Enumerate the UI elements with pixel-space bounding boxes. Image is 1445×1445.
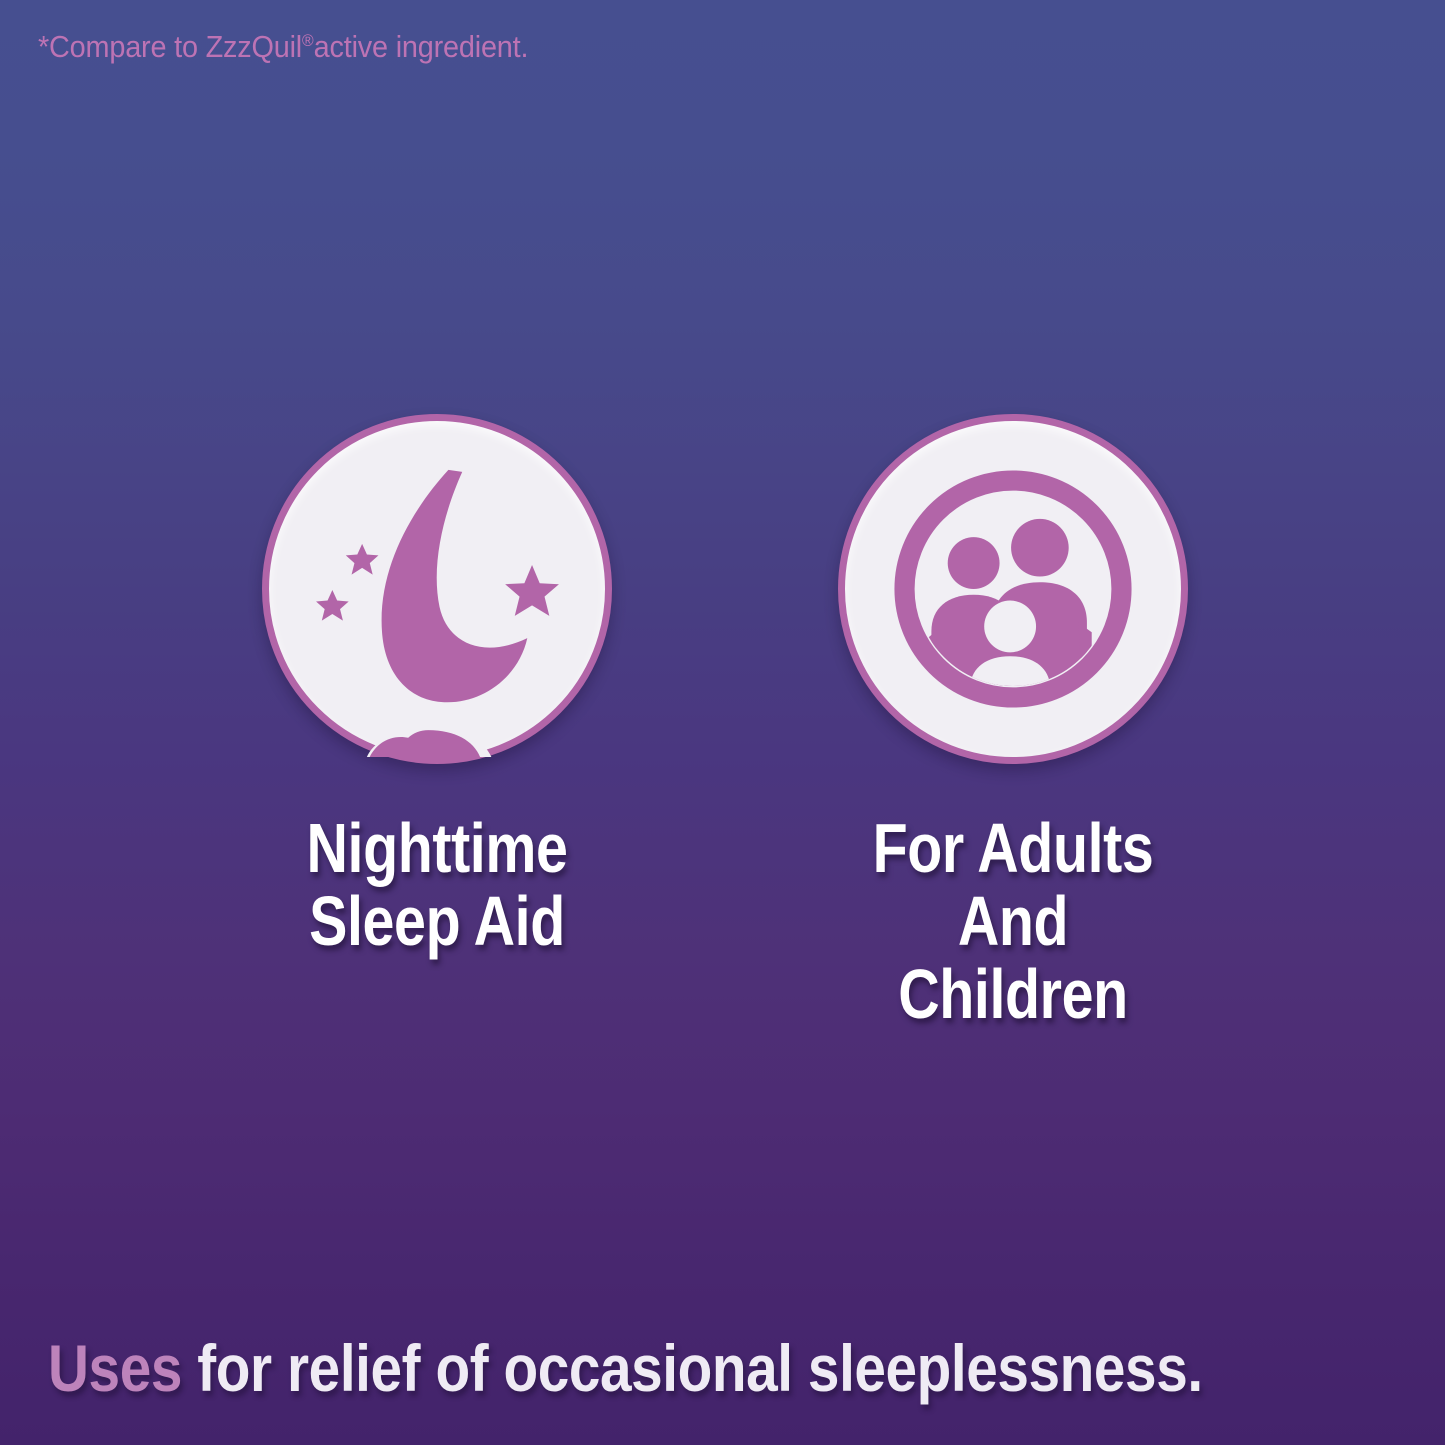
feature-for-adults-and-children: For Adults And Children (803, 404, 1223, 1031)
footnote-text-before: *Compare to ZzzQuil (38, 29, 302, 64)
feature-label-nighttime-sleep-aid: Nighttime Sleep Aid (265, 812, 609, 958)
star-icon (346, 544, 379, 575)
uses-keyword: Uses (48, 1331, 182, 1405)
star-icon (505, 565, 559, 616)
compare-footnote: *Compare to ZzzQuil®active ingredient. (38, 22, 528, 66)
badge-for-adults-and-children (838, 414, 1188, 764)
product-feature-panel: *Compare to ZzzQuil®active ingredient. (0, 0, 1445, 1445)
registered-trademark-icon: ® (302, 31, 314, 50)
badge-nighttime-sleep-aid (262, 414, 612, 764)
feature-row: Nighttime Sleep Aid (0, 404, 1445, 1004)
feature-label-for-adults-and-children: For Adults And Children (841, 812, 1185, 1031)
uses-statement: Uses for relief of occasional sleeplessn… (48, 1333, 1203, 1403)
footnote-text-after: active ingredient. (314, 29, 529, 64)
feature-nighttime-sleep-aid: Nighttime Sleep Aid (227, 404, 647, 958)
star-icon (316, 590, 349, 621)
family-adults-children-icon (845, 421, 1181, 757)
uses-body: for relief of occasional sleeplessness. (182, 1331, 1203, 1405)
moon-cloud-stars-icon (269, 421, 605, 757)
